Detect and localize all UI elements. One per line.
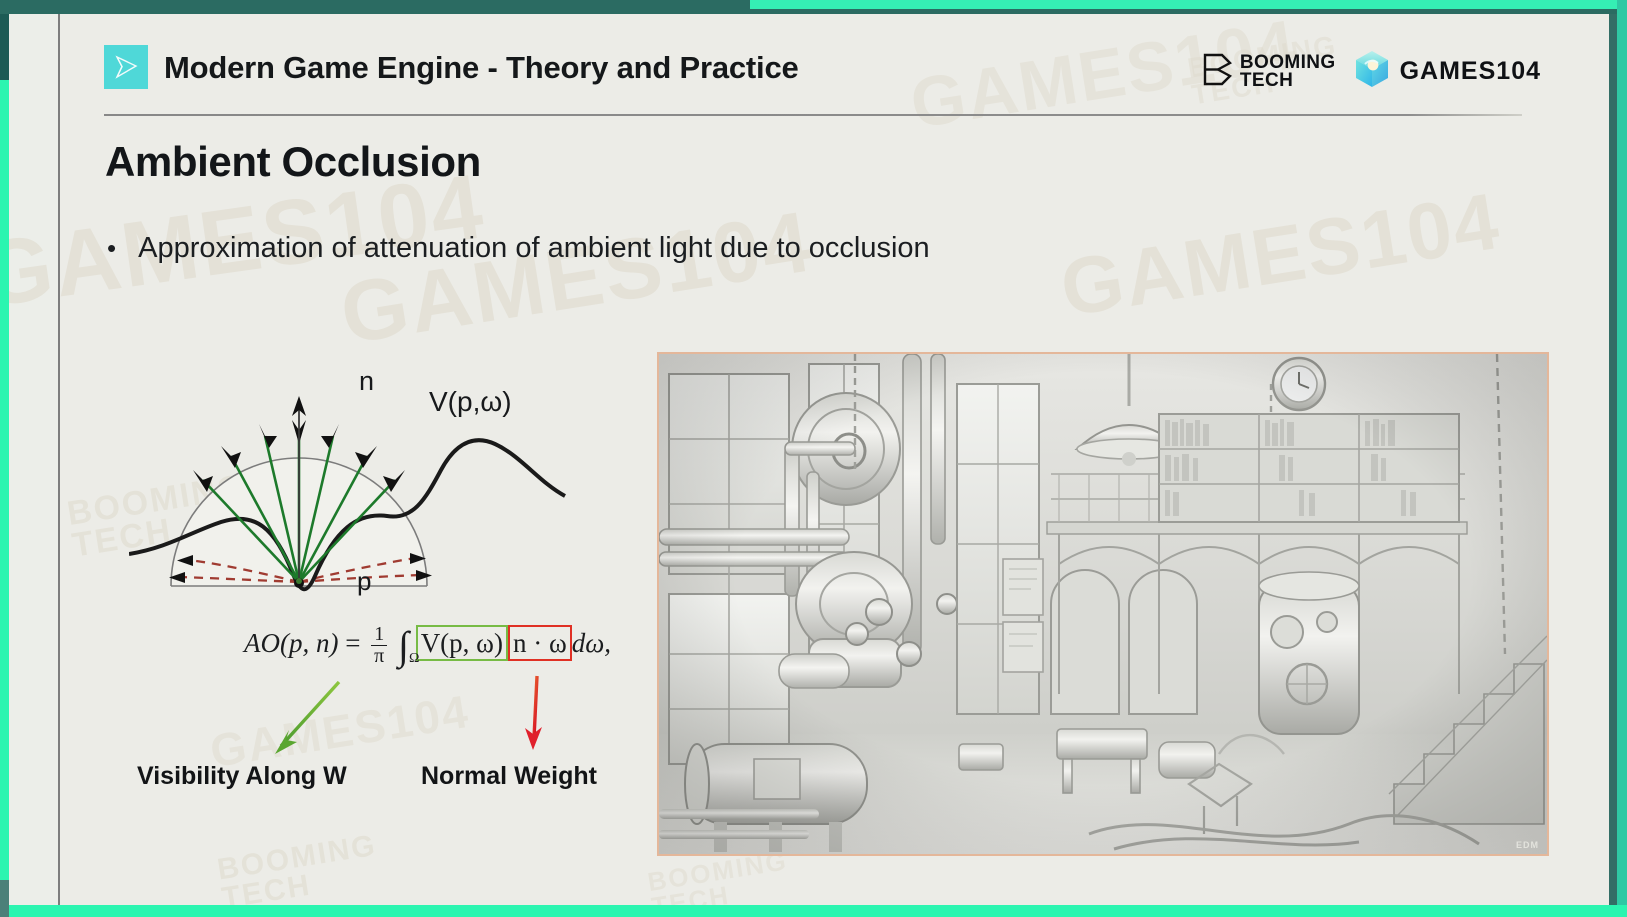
render-credit-label: EDM (1516, 840, 1539, 850)
games104-label: GAMES104 (1400, 57, 1541, 86)
bullet-marker: • (107, 235, 116, 261)
hemisphere-diagram-icon (129, 364, 669, 624)
normal-vector-label: n (359, 366, 374, 397)
video-player-screen: GAMES104 GAMES104 GAMES104 GAMES104 GAME… (0, 0, 1627, 917)
slide-title: Ambient Occlusion (105, 138, 481, 186)
page-title: Modern Game Engine - Theory and Practice (164, 50, 799, 86)
header-divider (104, 114, 1522, 116)
visibility-function-label: V(p,ω) (429, 386, 512, 418)
booming-tech-label: BOOMING TECH (1240, 54, 1336, 89)
brand-logos: BOOMING TECH (1202, 50, 1541, 93)
slide-surface: GAMES104 GAMES104 GAMES104 GAMES104 GAME… (9, 14, 1609, 905)
ao-hemisphere-figure: n V(p,ω) p AO(p, n) = 1 π ∫Ω V(p, ω)n · … (129, 364, 669, 834)
booming-b-mark-icon (1202, 53, 1233, 91)
player-bottom-accent (9, 905, 1627, 917)
play-triangle-icon (104, 45, 148, 89)
bullet-text: Approximation of attenuation of ambient … (138, 232, 930, 265)
player-left-accent (0, 80, 9, 880)
normal-weight-caption: Normal Weight (421, 762, 597, 791)
watermark-booming-tech: BOOMING TECH (216, 832, 384, 905)
surface-point-label: p (357, 566, 371, 597)
bullet-item: • Approximation of attenuation of ambien… (107, 232, 930, 265)
watermark-booming-tech: BOOMING TECH (646, 848, 793, 905)
visibility-caption: Visibility Along W (137, 762, 347, 791)
slide-margin-rule (58, 14, 60, 905)
booming-tech-logo: BOOMING TECH (1202, 53, 1336, 91)
booming-line2: TECH (1240, 70, 1293, 91)
formula-numerator: 1 (371, 624, 387, 646)
games-cube-icon (1354, 50, 1390, 93)
games104-logo: GAMES104 (1354, 50, 1541, 93)
annotation-arrows-icon (129, 654, 669, 824)
slide-left-margin (9, 14, 58, 905)
player-left-border-top (0, 14, 9, 80)
player-top-accent (750, 0, 1627, 9)
ao-render-image: EDM (657, 352, 1549, 856)
watermark-games104: GAMES104 (1055, 175, 1507, 335)
player-left-border-bottom (0, 880, 9, 917)
slide-header: Modern Game Engine - Theory and Practice… (104, 42, 1573, 110)
player-right-accent (1617, 0, 1627, 917)
player-right-border (1608, 14, 1617, 917)
